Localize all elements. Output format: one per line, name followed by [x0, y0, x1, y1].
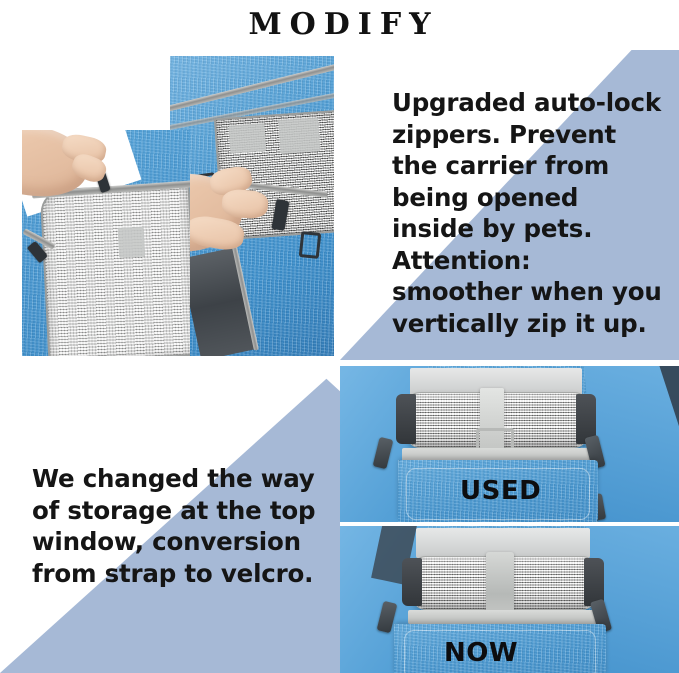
panel-storage-comparison: USED NOW: [340, 360, 679, 673]
zipper-photo-left: [22, 130, 190, 356]
roll-end-cap-left: [396, 394, 416, 444]
mesh-patch: [228, 123, 266, 153]
infographic-page: MODIFY: [0, 0, 679, 673]
buckle-icon: [299, 231, 322, 259]
zipper-photo-right: [170, 56, 334, 356]
panel-zipper-photos: [0, 50, 340, 360]
comparison-photo-used: USED: [340, 366, 679, 522]
comparison-photo-now: NOW: [340, 526, 679, 673]
zipper-demo-photos: [0, 50, 340, 360]
finger: [221, 188, 269, 219]
panel-zipper-caption: Upgraded auto-lock zippers. Prevent the …: [340, 50, 679, 360]
mesh-window-lower: [40, 182, 190, 356]
caption-storage: We changed the way of storage at the top…: [32, 463, 320, 589]
window-ledge: [408, 610, 600, 624]
mesh-patch: [118, 227, 146, 258]
diagonal-background: We changed the way of storage at the top…: [0, 360, 340, 673]
caption-zippers: Upgraded auto-lock zippers. Prevent the …: [392, 87, 667, 339]
mesh-patch: [278, 117, 320, 154]
page-title: MODIFY: [240, 10, 438, 40]
label-used: USED: [460, 476, 541, 506]
page-title-bar: MODIFY: [0, 0, 679, 50]
roll-end-cap-left: [402, 558, 422, 606]
panel-storage-caption: We changed the way of storage at the top…: [0, 360, 340, 673]
diagonal-background: Upgraded auto-lock zippers. Prevent the …: [340, 50, 679, 360]
label-now: NOW: [444, 638, 518, 668]
